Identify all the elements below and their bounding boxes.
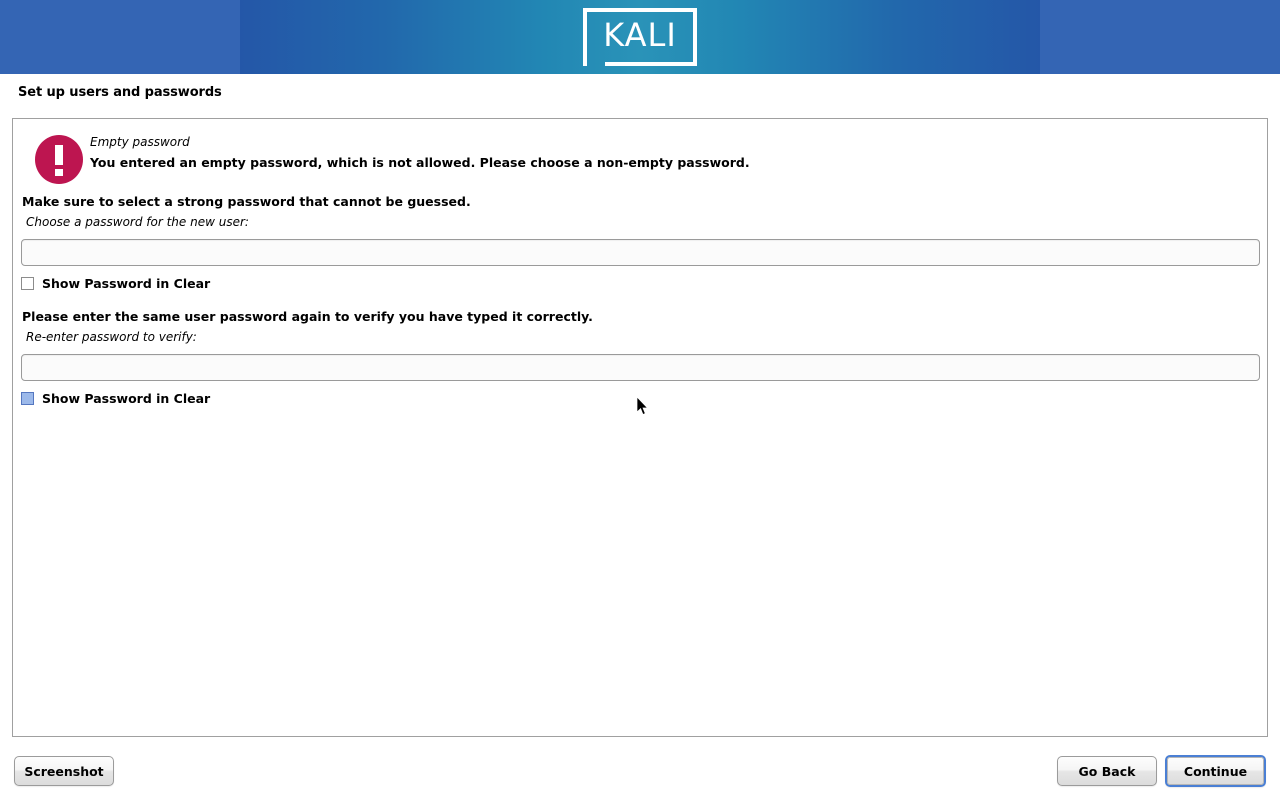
password-field-label: Choose a password for the new user: — [26, 215, 249, 229]
show-password-in-clear-checkbox-2[interactable] — [21, 392, 34, 405]
page-title: Set up users and passwords — [18, 85, 222, 100]
error-heading: Empty password — [90, 135, 190, 149]
password-input-field[interactable] — [22, 240, 1259, 265]
password-input[interactable] — [21, 239, 1260, 266]
show-password-in-clear-checkbox-1[interactable] — [21, 277, 34, 290]
installer-content-panel: Empty password You entered an empty pass… — [12, 118, 1268, 737]
exclamation-stem — [55, 145, 63, 165]
logo-text: KALI — [583, 8, 697, 62]
show-password-in-clear-checkbox-1-row[interactable]: Show Password in Clear — [21, 276, 210, 291]
show-password-in-clear-checkbox-2-row[interactable]: Show Password in Clear — [21, 391, 210, 406]
show-password-in-clear-label-2: Show Password in Clear — [42, 391, 210, 406]
screenshot-button[interactable]: Screenshot — [14, 756, 114, 786]
continue-button-inner: Continue — [1167, 757, 1264, 785]
kali-logo: KALI — [583, 8, 697, 66]
logo-frame-bottom — [605, 62, 697, 66]
show-password-in-clear-label-1: Show Password in Clear — [42, 276, 210, 291]
password-advice-text: Make sure to select a strong password th… — [22, 194, 471, 209]
go-back-button[interactable]: Go Back — [1057, 756, 1157, 786]
verify-password-heading: Please enter the same user password agai… — [22, 309, 593, 324]
kali-banner: KALI — [0, 0, 1280, 74]
verify-password-input-field[interactable] — [22, 355, 1259, 380]
continue-button[interactable]: Continue — [1165, 755, 1266, 787]
verify-field-label: Re-enter password to verify: — [26, 330, 197, 344]
error-message: You entered an empty password, which is … — [90, 155, 750, 170]
exclamation-dot — [55, 169, 63, 176]
verify-password-input[interactable] — [21, 354, 1260, 381]
error-exclamation-icon — [35, 135, 83, 184]
